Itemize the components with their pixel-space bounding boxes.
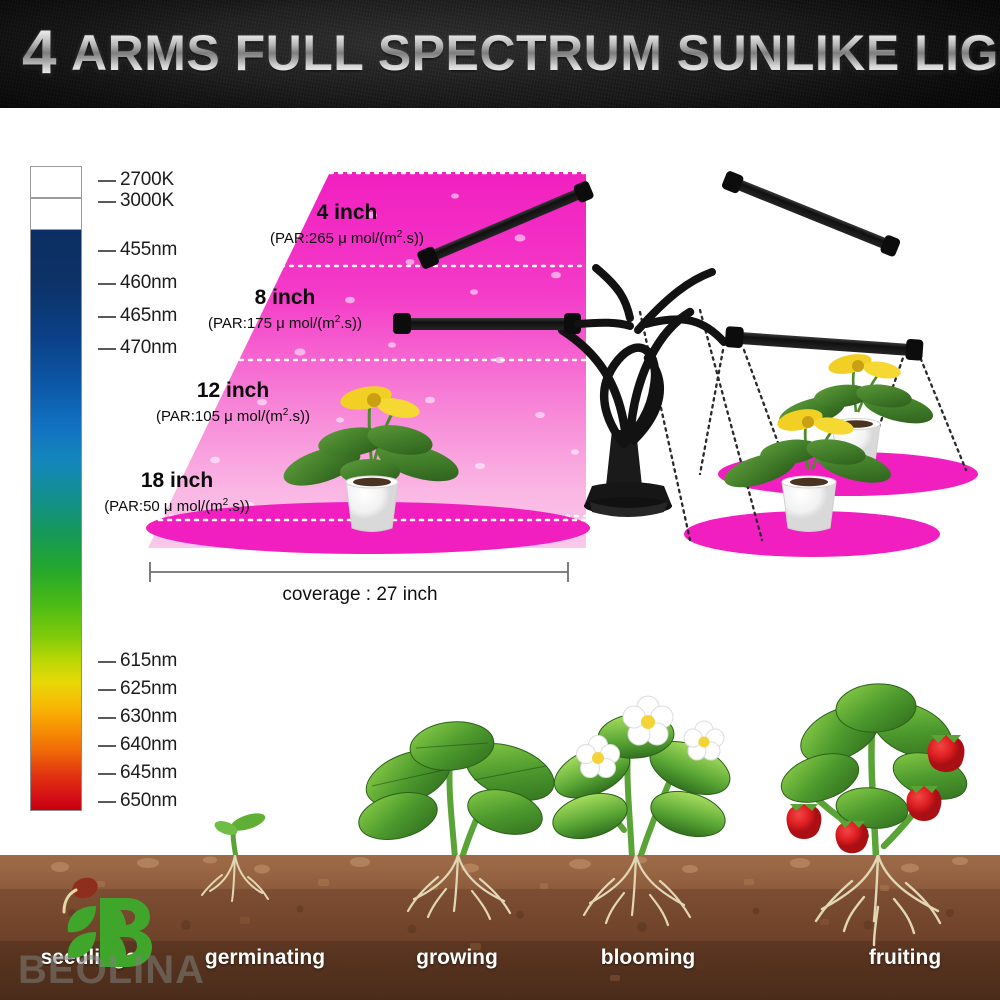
distance-label-18inch: 18 inch (PAR:50 μ mol/(m2.s)) bbox=[62, 468, 292, 517]
plant-germinating bbox=[213, 810, 268, 858]
growth-stage-plants bbox=[0, 630, 1000, 870]
brand-name: BEOLINA bbox=[18, 948, 205, 993]
distance-value-12inch: 12 inch bbox=[118, 378, 348, 403]
plant-fruiting bbox=[775, 681, 972, 858]
stage-label-blooming: blooming bbox=[578, 946, 718, 970]
distance-label-8inch: 8 inch (PAR:175 μ mol/(m2.s)) bbox=[170, 285, 400, 334]
distance-label-4inch: 4 inch (PAR:265 μ mol/(m2.s)) bbox=[232, 200, 462, 249]
par-value-12inch: (PAR:105 μ mol/(m2.s)) bbox=[118, 403, 348, 427]
led-bar-mid-right bbox=[725, 326, 924, 361]
coverage-label: coverage : 27 inch bbox=[150, 584, 570, 606]
led-bar-upper-right bbox=[721, 170, 902, 258]
brand-watermark: BEOLINA bbox=[18, 870, 228, 988]
gooseneck-upper bbox=[638, 272, 724, 342]
coverage-dimension bbox=[150, 562, 568, 582]
distance-value-8inch: 8 inch bbox=[170, 285, 400, 310]
par-value-18inch: (PAR:50 μ mol/(m2.s)) bbox=[62, 493, 292, 517]
distance-label-12inch: 12 inch (PAR:105 μ mol/(m2.s)) bbox=[118, 378, 348, 427]
infographic-page: 4 ARMS FULL SPECTRUM SUNLIKE LIGHT 2700K… bbox=[0, 0, 1000, 1000]
distance-value-18inch: 18 inch bbox=[62, 468, 292, 493]
lamp-diagram bbox=[0, 0, 1000, 660]
par-value-8inch: (PAR:175 μ mol/(m2.s)) bbox=[170, 310, 400, 334]
plant-growing bbox=[354, 718, 562, 858]
plant-blooming bbox=[547, 696, 738, 858]
distance-value-4inch: 4 inch bbox=[232, 200, 462, 225]
stage-label-fruiting: fruiting bbox=[840, 946, 970, 970]
stage-label-growing: growing bbox=[392, 946, 522, 970]
par-value-4inch: (PAR:265 μ mol/(m2.s)) bbox=[232, 225, 462, 249]
